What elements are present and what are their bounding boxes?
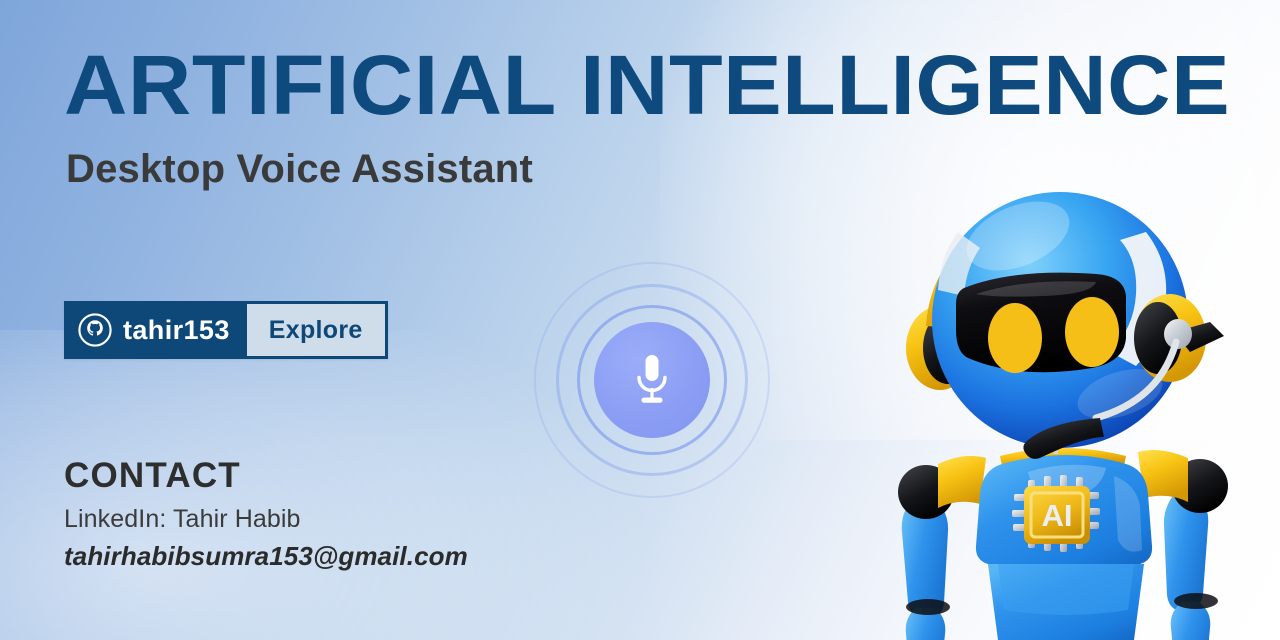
- github-octocat-icon: [78, 313, 112, 347]
- voice-assistant-widget[interactable]: [532, 260, 772, 500]
- contact-heading: CONTACT: [64, 458, 468, 495]
- contact-email[interactable]: tahirhabibsumra153@gmail.com: [64, 542, 468, 572]
- github-username: tahir153: [123, 317, 230, 344]
- github-badge-user-segment[interactable]: tahir153: [64, 301, 247, 359]
- robot-chip-label: AI: [1042, 498, 1073, 533]
- contact-block: CONTACT LinkedIn: Tahir Habib tahirhabib…: [64, 458, 468, 571]
- github-explore-button[interactable]: Explore: [247, 301, 388, 359]
- page-title: ARTIFICIAL INTELLIGENCE: [64, 46, 1151, 126]
- robot-illustration: AI: [852, 120, 1280, 640]
- github-badge[interactable]: tahir153 Explore: [64, 301, 388, 359]
- poster-canvas: ARTIFICIAL INTELLIGENCE Desktop Voice As…: [0, 0, 1280, 640]
- contact-linkedin: LinkedIn: Tahir Habib: [64, 505, 468, 534]
- microphone-icon: [629, 352, 675, 408]
- mic-button[interactable]: [594, 322, 710, 438]
